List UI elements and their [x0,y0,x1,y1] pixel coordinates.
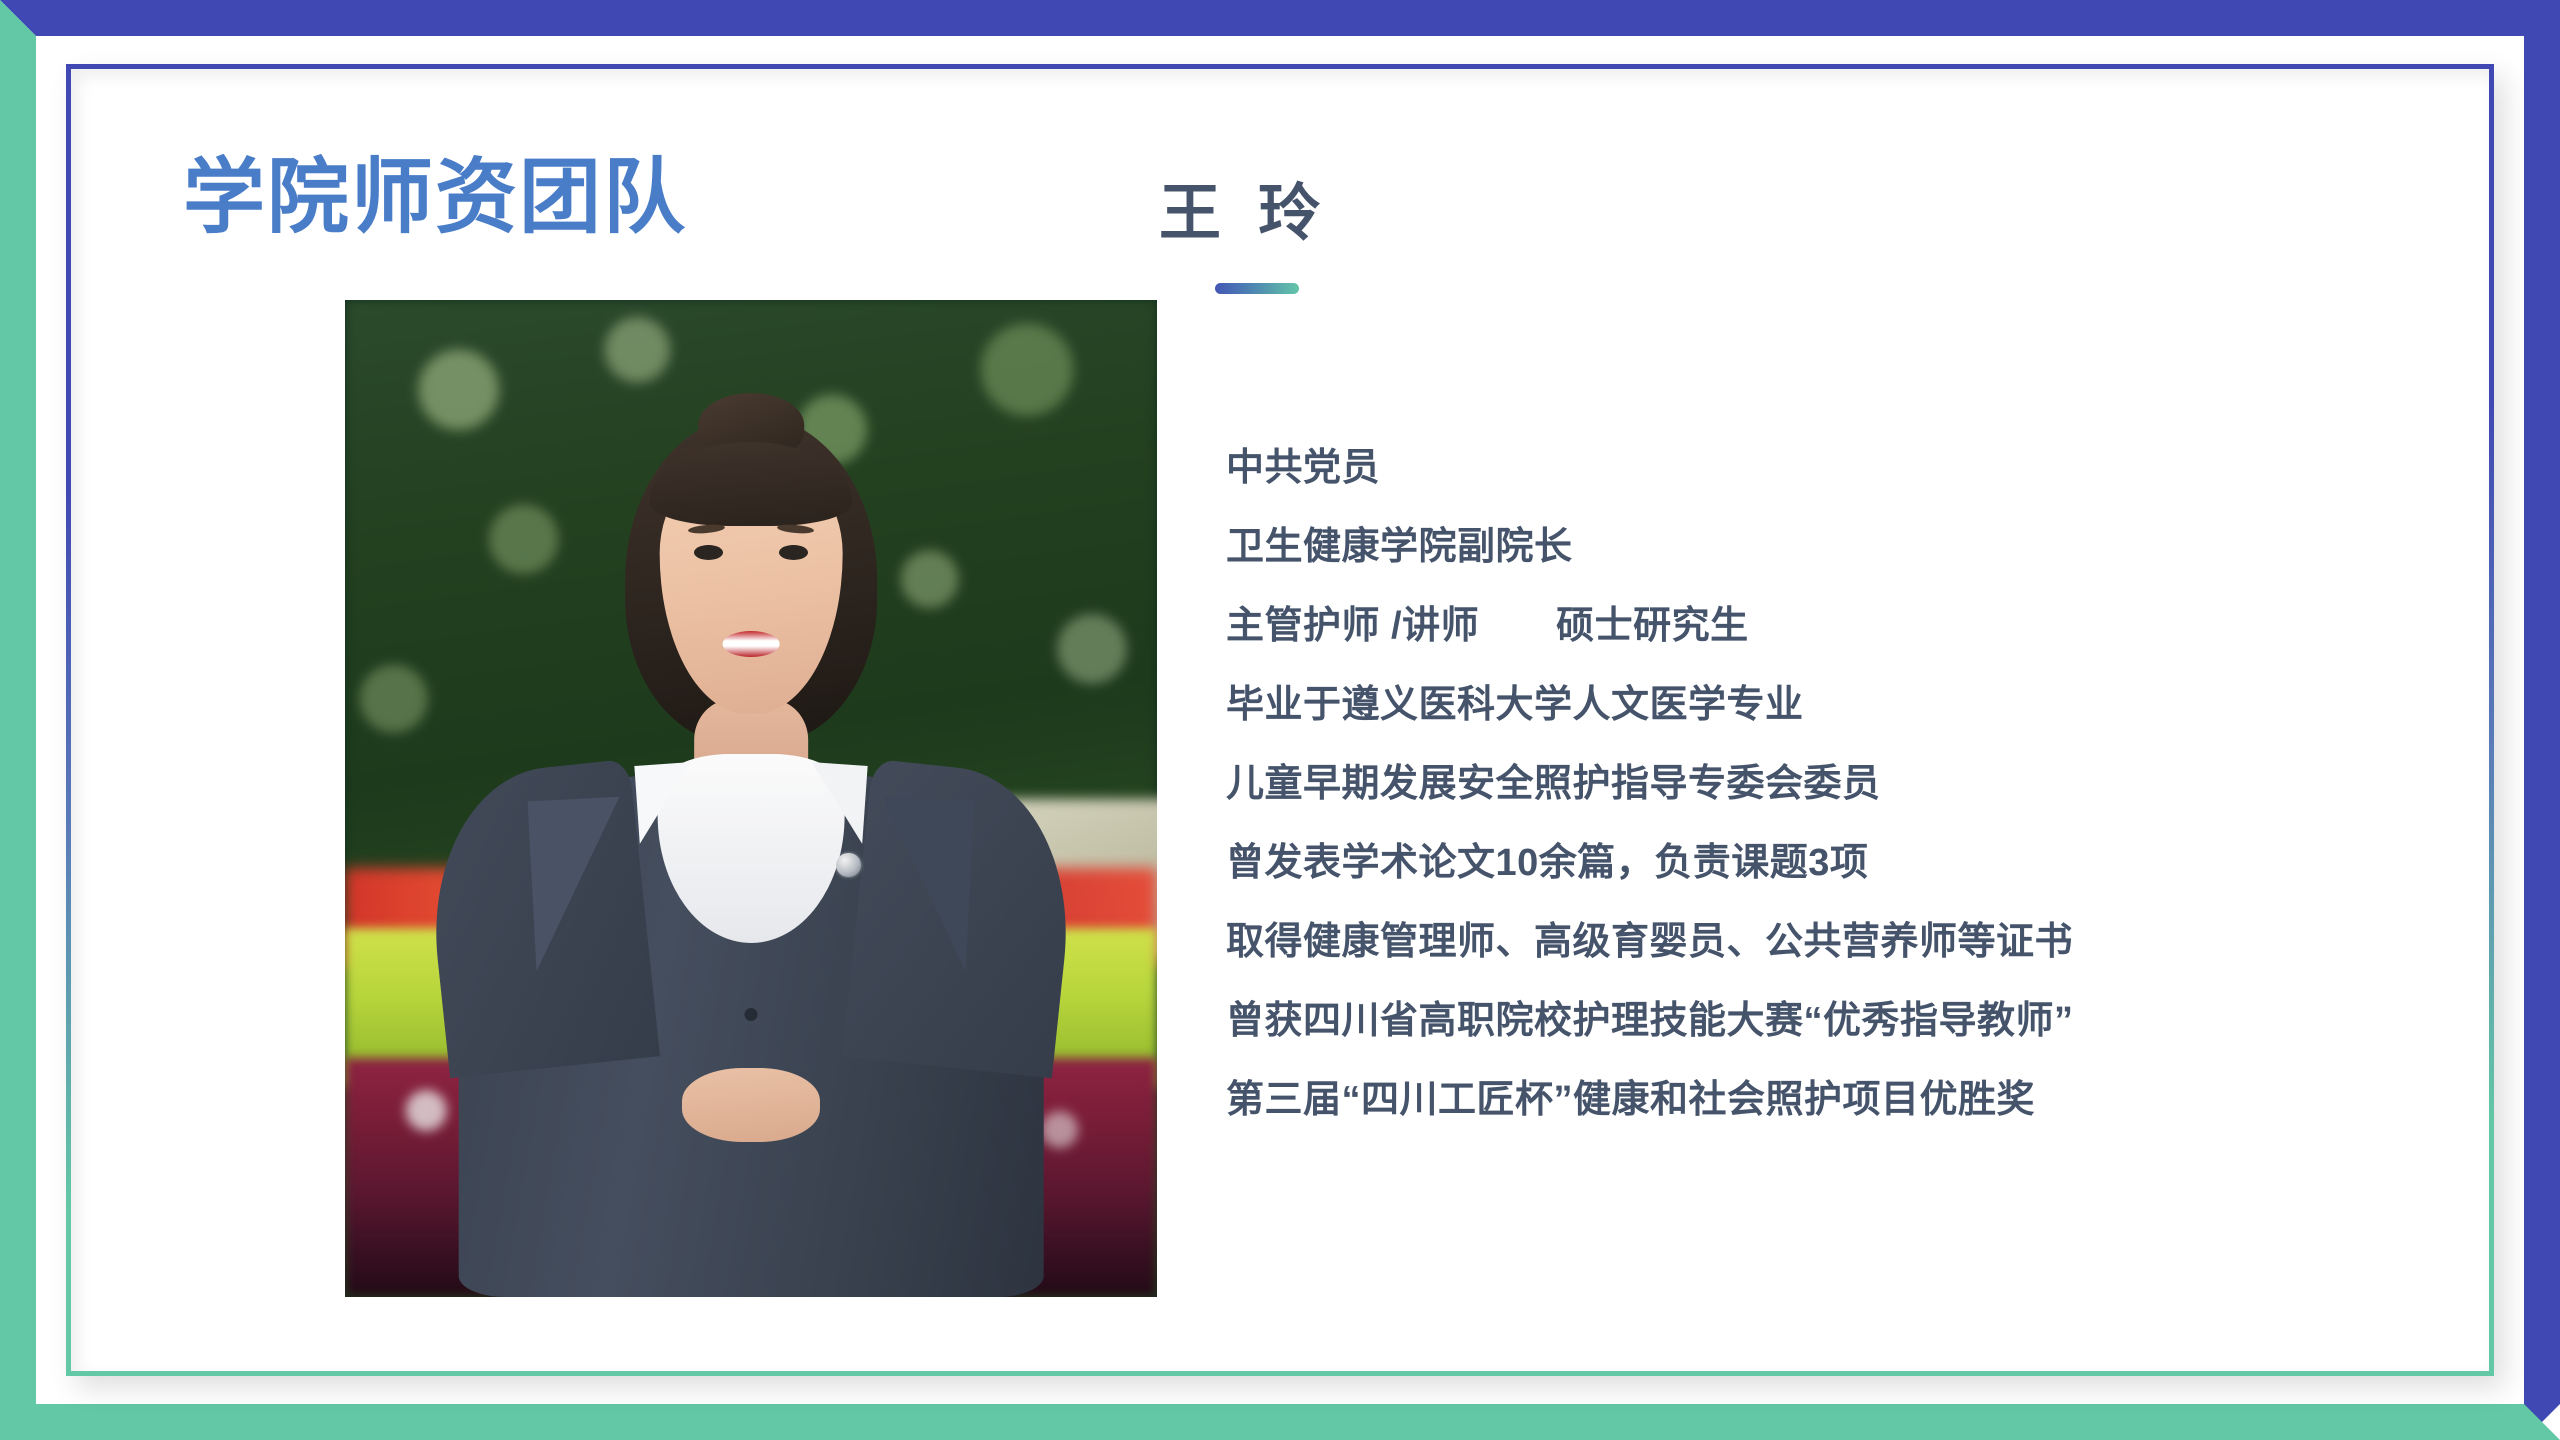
bio-line: 儿童早期发展安全照护指导专委会委员 [1226,765,2456,803]
person-name: 王 玲 [1159,183,1330,245]
person-lapel-badge [836,853,860,877]
decorative-band-right [2524,0,2560,1440]
slide-root: 学院师资团队 [0,0,2560,1440]
portrait-photo [345,300,1157,1297]
bio-line: 第三届“四川工匠杯”健康和社会照护项目优胜奖 [1226,1081,2456,1119]
bio-list: 中共党员 卫生健康学院副院长 主管护师 /讲师 硕士研究生 毕业于遵义医科大学人… [1226,449,2456,1119]
person-lips [723,631,780,657]
decorative-band-left [0,0,36,1440]
name-underline-accent [1215,283,1299,294]
inner-frame-border: 学院师资团队 [66,64,2494,1376]
bio-line: 中共党员 [1226,449,2456,487]
person-collar-right [806,762,867,844]
photo-person [345,300,1157,1297]
page-title: 学院师资团队 [183,157,687,239]
bio-line: 取得健康管理师、高级育婴员、公共营养师等证书 [1226,923,2456,961]
person-eye-right [779,545,808,560]
person-lapel-right [874,796,975,971]
bio-line: 曾获四川省高职院校护理技能大赛“优秀指导教师” [1226,1002,2456,1040]
person-collar-left [635,762,696,844]
decorative-band-bottom [0,1404,2560,1440]
decorative-band-top [0,0,2560,36]
bio-line: 卫生健康学院副院长 [1226,528,2456,566]
person-suit-button [745,1008,758,1021]
bio-line: 曾发表学术论文10余篇，负责课题3项 [1226,844,2456,882]
person-lapel-left [527,796,628,971]
bio-line: 毕业于遵义医科大学人文医学专业 [1226,686,2456,724]
bio-line: 主管护师 /讲师 硕士研究生 [1226,607,2456,645]
person-hands [682,1068,820,1143]
content-card: 学院师资团队 [71,69,2489,1371]
